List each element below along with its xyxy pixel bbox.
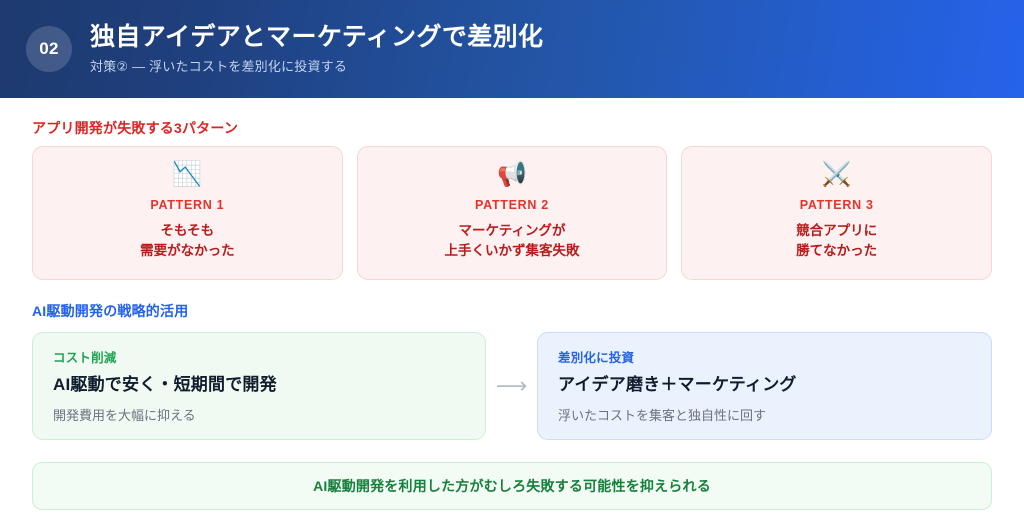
slide-root: 02 独自アイデアとマーケティングで差別化 対策② — 浮いたコストを差別化に投… [0,0,1024,531]
failure-section-title: アプリ開発が失敗する3パターン [32,118,238,138]
pattern-description-line: マーケティングが [445,221,580,241]
differentiation-kicker: 差別化に投資 [558,347,971,366]
strategy-section-title: AI駆動開発の戦略的活用 [32,301,188,321]
pattern-description-line: 上手くいかず集客失敗 [445,241,580,261]
section-number-badge: 02 [26,26,72,72]
pattern-card: ⚔️ PATTERN 3 競合アプリに 勝てなかった [681,146,992,280]
cost-reduction-box: コスト削減 AI駆動で安く・短期間で開発 開発費用を大幅に抑える [32,332,486,440]
cost-reduction-kicker: コスト削減 [53,347,465,366]
pattern-description-line: 競合アプリに [796,221,877,241]
conclusion-banner: AI駆動開発を利用した方がむしろ失敗する可能性を抑えられる [32,462,992,510]
cost-reduction-note: 開発費用を大幅に抑える [53,408,465,425]
pattern-card: 📢 PATTERN 2 マーケティングが 上手くいかず集客失敗 [357,146,668,280]
chart-decreasing-icon: 📉 [172,163,202,187]
page-title: 独自アイデアとマーケティングで差別化 [90,23,543,53]
slide-header: 02 独自アイデアとマーケティングで差別化 対策② — 浮いたコストを差別化に投… [0,0,1024,98]
pattern-description: そもそも 需要がなかった [140,221,235,262]
pattern-label: PATTERN 1 [150,198,224,212]
arrow-right-icon: ⟶ [486,374,537,398]
conclusion-banner-text: AI駆動開発を利用した方がむしろ失敗する可能性を抑えられる [313,476,711,496]
pattern-description-line: 需要がなかった [140,241,235,261]
megaphone-icon: 📢 [497,163,527,187]
pattern-description-line: そもそも [140,221,235,241]
pattern-label: PATTERN 3 [800,198,874,212]
differentiation-box: 差別化に投資 アイデア磨き＋マーケティング 浮いたコストを集客と独自性に回す [537,332,992,440]
page-subtitle: 対策② — 浮いたコストを差別化に投資する [90,59,543,75]
pattern-description: マーケティングが 上手くいかず集客失敗 [445,221,580,262]
differentiation-note: 浮いたコストを集客と独自性に回す [558,408,971,425]
cost-reduction-heading: AI駆動で安く・短期間で開発 [53,375,465,395]
pattern-description-line: 勝てなかった [796,241,877,261]
pattern-card: 📉 PATTERN 1 そもそも 需要がなかった [32,146,343,280]
crossed-swords-icon: ⚔️ [822,163,852,187]
strategy-flow: コスト削減 AI駆動で安く・短期間で開発 開発費用を大幅に抑える ⟶ 差別化に投… [32,332,992,440]
pattern-label: PATTERN 2 [475,198,549,212]
differentiation-heading: アイデア磨き＋マーケティング [558,375,971,395]
header-text-group: 独自アイデアとマーケティングで差別化 対策② — 浮いたコストを差別化に投資する [90,23,543,75]
pattern-description: 競合アプリに 勝てなかった [796,221,877,262]
failure-pattern-cards: 📉 PATTERN 1 そもそも 需要がなかった 📢 PATTERN 2 マーケ… [32,146,992,280]
